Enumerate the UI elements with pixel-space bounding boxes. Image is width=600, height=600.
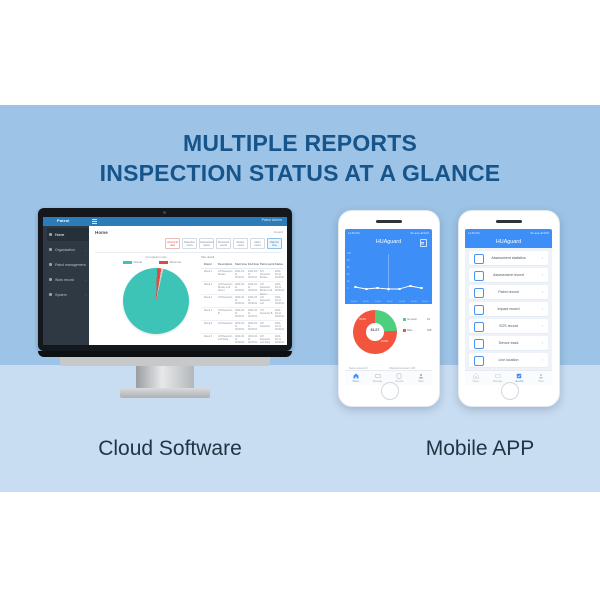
cell-point: GH Detection B [260,309,274,315]
cell-brand: Week 6 [204,335,216,338]
monitor-neck [136,366,194,388]
table-row[interactable]: Week 1 GH Detection Broken 2024-03-11 00… [201,268,283,282]
cell-brand: Week 2 [204,283,216,286]
status-bar: 11:45 AM 4G ●●● ▰ 92% [465,229,552,236]
cell-status: 2024-03-11 00:00:01 [275,296,283,306]
nav-item-label: Home [473,380,479,383]
tab-detection-count[interactable]: Detection count [182,238,197,249]
nav-item-mine[interactable]: Mine [410,373,432,383]
page-title: MULTIPLE REPORTS INSPECTION STATUS AT A … [0,128,600,188]
cell-brand: Week 4 [204,309,216,312]
sidebar-item-label: System [55,293,67,297]
chevron-right-icon: › [542,290,543,294]
column-header: Patrol point [260,263,274,266]
table-row[interactable]: Week 6 GH Detection Left Wing 2024-03-11… [201,333,283,345]
menu-item-label: Live location [469,358,548,362]
pie-chart-legend: Normal Abnormal [117,261,195,265]
dashboard-sidebar: Home Organization › Patrol management › [43,226,89,345]
status-bar: 11:45 AM 4G ●●● ▰ 92% [345,229,432,236]
records-table: Site detail Brand Description Start time… [201,255,283,345]
cell-point: GH Detection Left [260,296,274,306]
cell-end: 2024-03-11 00:00:01 [248,335,259,345]
app-title: HUAguard [345,239,432,245]
chevron-right-icon: › [542,307,543,311]
cell-brand: Week 3 [204,296,216,299]
tab-personnel-record[interactable]: Personnel record [216,238,231,249]
gear-icon [49,293,52,296]
slice-label: 78.2% [359,318,366,321]
patrol-icon [49,263,52,266]
nav-item-message[interactable]: Message [487,373,509,383]
donut-legend-item-miss: Miss 109 [403,329,412,332]
chevron-right-icon: › [542,324,543,328]
x-tick: 03-08 [399,301,405,303]
x-tick: 03-04 [351,301,357,303]
donut-legend-item-go: Go level 31 [403,318,417,321]
nav-item-label: Record [396,380,404,383]
nav-item-label: Home [353,380,359,383]
export-button[interactable]: Export [274,230,283,234]
menu-item-patrol-record[interactable]: Patrol record › [469,285,548,299]
monitor-screen: Patrol Patrol Admin Home Organization › [43,217,287,345]
message-icon [375,373,381,379]
chevron-right-icon: › [85,278,86,282]
chevron-right-icon: › [85,263,86,267]
monitor-base-bar [60,357,270,366]
x-tick: 03-10 [422,301,428,303]
column-header: Status [275,263,283,266]
background-band-top [0,0,600,105]
tab-patrol-in-time[interactable]: Patrol in time [267,238,282,249]
phone-speaker [376,220,402,223]
menu-item-assessment-statistics[interactable]: Assessment statistics › [469,251,548,265]
cell-start: 2024-03-11 00:00:01 [235,335,246,345]
message-icon [495,373,501,379]
status-indicators: 4G ●●● ▰ 92% [530,231,549,235]
monitor-bezel: Patrol Patrol Admin Home Organization › [38,208,292,351]
cell-desc: GH Detection [218,322,233,325]
headline-line-2: INSPECTION STATUS AT A GLANCE [0,158,600,188]
status-time: 11:45 AM [468,231,480,235]
table-row[interactable]: Week 4 GH Detection B 2024-03-11 00:00:0… [201,307,283,321]
mobile-phone-left: 11:45 AM 4G ●●● ▰ 92% HUAguard 100 80 60… [338,210,440,407]
data-point [398,288,401,291]
organization-icon [49,248,52,251]
cell-point: GH Detection Broken [260,270,274,280]
table-row[interactable]: Week 3 GH Detection 2024-03-11 00:00:01 … [201,294,283,308]
donut-center-label: 61-07 [353,328,397,332]
y-tick: 20 [347,281,350,283]
cell-start: 2024-03-11 00:00:01 [235,283,246,293]
sidebar-item-organization[interactable]: Organization › [47,243,89,256]
nav-item-mine[interactable]: Mine [530,373,552,383]
status-time: 11:45 AM [348,231,360,235]
x-tick: 03-07 [387,301,393,303]
phone-screen-left: 11:45 AM 4G ●●● ▰ 92% HUAguard 100 80 60… [345,229,432,385]
sidebar-item-patrol-management[interactable]: Patrol management › [47,258,89,271]
y-tick: 0 [347,288,348,290]
sidebar-item-label: Work record [55,278,74,282]
chevron-right-icon: › [542,256,543,260]
data-point [354,286,357,289]
menu-item-live-location[interactable]: Live location › [469,353,548,367]
column-header: Start time [235,263,247,266]
tab-device-count[interactable]: Device count [233,238,248,249]
nav-item-label: Mine [419,380,424,383]
app-header: HUAguard [345,236,432,248]
sidebar-item-home[interactable]: Home [47,228,89,241]
chevron-right-icon: › [542,341,543,345]
column-header: End time [248,263,259,266]
cell-status: 2024-03-11 00:00:01 [275,322,283,332]
home-icon [473,373,479,379]
cell-end: 2024-03-11 00:00:01 [248,309,259,319]
phone-speaker [496,220,522,223]
chevron-right-icon: › [85,293,86,297]
dashboard-tabs: Abnormal data Detection count Assessment… [165,238,283,250]
x-tick: 03-09 [411,301,417,303]
nav-item-label: Message [373,380,383,383]
sidebar-item-label: Patrol management [55,263,86,267]
tab-assessment-report[interactable]: Assessment report [199,238,214,249]
caption-mobile-app: Mobile APP [370,437,590,461]
data-point [387,288,390,291]
y-tick: 100 [347,253,351,255]
menu-item-label: Assessment record [469,273,548,277]
data-point [420,287,423,290]
menu-item-label: Patrol record [469,290,548,294]
data-point [409,285,412,288]
tab-alarm-count[interactable]: Alarm count [250,238,265,249]
user-icon [418,373,424,379]
tab-abnormal-data[interactable]: Abnormal data [165,238,180,249]
nav-item-label: Record [516,380,524,383]
checkpoint-donut-chart [353,310,397,354]
sidebar-item-system[interactable]: System › [47,288,89,301]
menu-item-device-track[interactable]: Device track › [469,336,548,350]
cell-desc: GH Detection B [218,309,233,315]
cell-end: 2024-03-11 00:00:01 [248,322,259,332]
cell-desc: GH Detection Broken [218,270,233,276]
y-tick: 80 [347,260,350,262]
cell-start: 2024-03-11 00:00:01 [235,296,246,306]
chevron-right-icon: › [542,273,543,277]
menu-item-label: Assessment statistics [469,256,548,260]
record-icon [516,373,522,379]
data-point [365,288,368,291]
column-header: Description [218,263,232,266]
background-band-bottom [0,492,600,600]
cell-brand: Week 5 [204,322,216,325]
table-caption: Site detail [201,255,214,259]
nav-item-home[interactable]: Home [345,373,367,383]
status-indicators: 4G ●●● ▰ 92% [410,231,429,235]
app-header: HUAguard [465,236,552,248]
patrol-trend-line-chart: 100 80 60 40 20 0 03-04 03-05 03-06 [345,248,432,304]
cell-end: 2024-03-11 00:00:01 [248,270,259,280]
cell-status: 2024-03-11 00:00:01 [275,309,283,319]
cell-point: GH Detection [260,322,274,328]
menu-item-label: Device track [469,341,548,345]
caption-cloud-software: Cloud Software [60,437,280,461]
cell-desc: GH Detection Left Wing [218,335,233,341]
menu-list: Assessment statistics › Assessment recor… [465,248,552,371]
menu-item-impact-record[interactable]: Impact record › [469,302,548,316]
menu-item-sos-record[interactable]: SOS record › [469,319,548,333]
sidebar-item-work-record[interactable]: Work record › [47,273,89,286]
sidebar-item-label: Home [55,233,64,237]
cell-end: 2024-03-11 00:00:01 [248,283,259,293]
legend-item-abnormal: Abnormal [159,261,181,264]
app-title: HUAguard [465,239,552,245]
y-tick: 60 [347,267,350,269]
cell-desc: GH Detection Broken Left Mount [218,283,233,293]
user-icon [538,373,544,379]
table-row[interactable]: Week 5 GH Detection 2024-03-11 00:00:01 … [201,320,283,334]
menu-item-label: Impact record [469,307,548,311]
dashboard-main: Home Export Abnormal data Detection coun… [89,226,287,345]
slice-label: 21.8% [381,340,388,343]
nav-item-label: Message [493,380,503,383]
data-point [376,287,379,290]
dashboard-page-title: Home [95,230,108,235]
checkpoint-summary-panel: 61-07 78.2% 21.8% Go level 31 Miss 109 D… [345,304,432,369]
menu-item-assessment-record[interactable]: Assessment record › [469,268,548,282]
cell-brand: Week 1 [204,270,216,273]
cell-start: 2024-03-11 00:00:01 [235,309,246,319]
webcam-icon [163,211,166,214]
cell-start: 2024-03-11 00:00:01 [235,322,246,332]
cell-status: 2024-03-11 00:00:01 [275,335,283,345]
cell-status: 2024-03-11 00:00:01 [275,283,283,293]
dashboard-topbar: Patrol Patrol Admin [43,217,287,226]
home-icon [353,373,359,379]
desktop-monitor: Patrol Patrol Admin Home Organization › [38,208,292,360]
cell-desc: GH Detection [218,296,233,299]
home-button[interactable] [501,382,519,400]
cloud-dashboard: Patrol Patrol Admin Home Organization › [43,217,287,345]
x-tick: 03-05 [363,301,369,303]
nav-item-home[interactable]: Home [465,373,487,383]
cell-start: 2024-03-11 00:00:01 [235,270,246,280]
monitor-foot [120,388,210,398]
y-tick: 40 [347,274,350,276]
completion-pie-chart [123,268,189,334]
chevron-right-icon: › [85,248,86,252]
legend-item-normal: Normal [123,261,142,264]
nav-item-label: Mine [539,380,544,383]
user-label[interactable]: Patrol Admin [262,218,282,222]
home-button[interactable] [381,382,399,400]
dashboard-logo: Patrol [57,218,70,223]
table-row[interactable]: Week 2 GH Detection Broken Left Mount 20… [201,281,283,295]
menu-toggle-icon[interactable] [92,219,97,223]
calendar-icon[interactable] [420,239,427,246]
cell-point: GH Detection Left Wing [260,335,274,345]
column-header: Brand [204,263,212,266]
record-icon [396,373,402,379]
record-icon [49,278,52,281]
poster-canvas: MULTIPLE REPORTS INSPECTION STATUS AT A … [0,0,600,600]
sidebar-item-label: Organization [55,248,75,252]
chevron-right-icon: › [542,358,543,362]
home-icon [49,233,52,236]
pie-chart-title: Completion rate [117,255,195,259]
cell-end: 2024-03-11 00:00:01 [248,296,259,306]
x-tick: 03-06 [375,301,381,303]
phone-screen-right: 11:45 AM 4G ●●● ▰ 92% HUAguard Assessmen… [465,229,552,385]
menu-item-label: SOS record [469,324,548,328]
cell-status: 2024-03-11 00:00:01 [275,270,283,280]
headline-line-1: MULTIPLE REPORTS [0,128,600,158]
mobile-phone-right: 11:45 AM 4G ●●● ▰ 92% HUAguard Assessmen… [458,210,560,407]
nav-item-message[interactable]: Message [367,373,389,383]
